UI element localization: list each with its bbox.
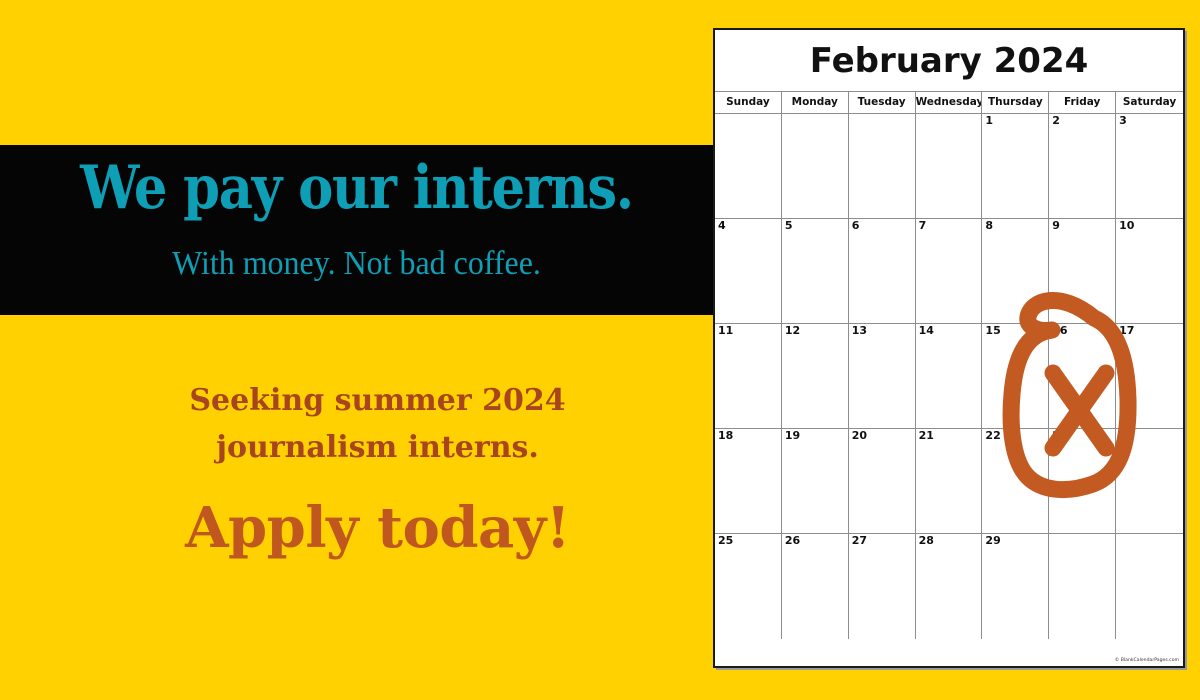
calendar-day-cell[interactable]: 3: [1116, 114, 1183, 219]
calendar-weekday-sunday: Sunday: [715, 92, 782, 113]
seeking-line-2: journalism interns.: [0, 425, 755, 472]
calendar-empty-cell: [715, 114, 782, 219]
calendar-day-cell[interactable]: 22: [982, 429, 1049, 534]
subheadline: With money. Not bad coffee.: [21, 244, 691, 283]
calendar-empty-cell: [916, 114, 983, 219]
calendar-day-number: 4: [718, 219, 726, 232]
calendar-empty-cell: [1116, 534, 1183, 639]
calendar: February 2024 SundayMondayTuesdayWednesd…: [713, 28, 1185, 668]
calendar-title: February 2024: [715, 30, 1183, 92]
calendar-day-number: 3: [1119, 114, 1127, 127]
calendar-weekday-saturday: Saturday: [1116, 92, 1183, 113]
headline: We pay our interns.: [43, 158, 670, 218]
calendar-day-cell[interactable]: 15: [982, 324, 1049, 429]
calendar-day-cell[interactable]: 6: [849, 219, 916, 324]
calendar-day-cell[interactable]: 4: [715, 219, 782, 324]
poster: We pay our interns. With money. Not bad …: [0, 0, 1200, 700]
calendar-day-cell[interactable]: 13: [849, 324, 916, 429]
calendar-day-number: 7: [919, 219, 927, 232]
calendar-day-cell[interactable]: 28: [916, 534, 983, 639]
calendar-day-cell[interactable]: 7: [916, 219, 983, 324]
calendar-grid: 1234567891011121314151617181920212223242…: [715, 114, 1183, 639]
calendar-day-cell[interactable]: 20: [849, 429, 916, 534]
calendar-day-number: 11: [718, 324, 733, 337]
calendar-day-number: 20: [852, 429, 867, 442]
calendar-day-number: 8: [985, 219, 993, 232]
calendar-day-cell[interactable]: 14: [916, 324, 983, 429]
calendar-day-number: 23: [1052, 429, 1067, 442]
calendar-day-cell[interactable]: 21: [916, 429, 983, 534]
calendar-day-cell[interactable]: 17: [1116, 324, 1183, 429]
calendar-weekday-wednesday: Wednesday: [916, 92, 983, 113]
calendar-day-number: 2: [1052, 114, 1060, 127]
calendar-day-number: 15: [985, 324, 1000, 337]
calendar-day-number: 14: [919, 324, 934, 337]
call-to-action: Apply today!: [0, 500, 755, 556]
calendar-day-number: 5: [785, 219, 793, 232]
calendar-day-number: 29: [985, 534, 1000, 547]
calendar-day-cell[interactable]: 25: [715, 534, 782, 639]
calendar-day-cell[interactable]: 5: [782, 219, 849, 324]
calendar-day-cell[interactable]: 26: [782, 534, 849, 639]
calendar-day-number: 1: [985, 114, 993, 127]
calendar-credit: © BlankCalendarPages.com: [1115, 658, 1179, 663]
calendar-day-cell[interactable]: 2: [1049, 114, 1116, 219]
calendar-day-number: 21: [919, 429, 934, 442]
calendar-day-cell[interactable]: 8: [982, 219, 1049, 324]
calendar-day-number: 16: [1052, 324, 1067, 337]
calendar-day-cell[interactable]: 23: [1049, 429, 1116, 534]
calendar-day-cell[interactable]: 12: [782, 324, 849, 429]
calendar-weekday-header: SundayMondayTuesdayWednesdayThursdayFrid…: [715, 92, 1183, 114]
calendar-day-number: 25: [718, 534, 733, 547]
calendar-day-number: 22: [985, 429, 1000, 442]
calendar-day-number: 10: [1119, 219, 1134, 232]
seeking-text: Seeking summer 2024 journalism interns.: [0, 378, 755, 471]
calendar-day-number: 13: [852, 324, 867, 337]
calendar-day-number: 18: [718, 429, 733, 442]
calendar-day-number: 28: [919, 534, 934, 547]
calendar-empty-cell: [1049, 534, 1116, 639]
calendar-day-number: 19: [785, 429, 800, 442]
calendar-day-cell[interactable]: 11: [715, 324, 782, 429]
calendar-day-cell[interactable]: 27: [849, 534, 916, 639]
calendar-weekday-tuesday: Tuesday: [849, 92, 916, 113]
calendar-day-number: 12: [785, 324, 800, 337]
calendar-day-cell[interactable]: 1: [982, 114, 1049, 219]
calendar-day-number: 24: [1119, 429, 1134, 442]
calendar-day-cell[interactable]: 18: [715, 429, 782, 534]
calendar-weekday-friday: Friday: [1049, 92, 1116, 113]
calendar-day-number: 17: [1119, 324, 1134, 337]
calendar-day-number: 26: [785, 534, 800, 547]
calendar-day-cell[interactable]: 9: [1049, 219, 1116, 324]
calendar-day-cell[interactable]: 16: [1049, 324, 1116, 429]
calendar-weekday-monday: Monday: [782, 92, 849, 113]
calendar-day-cell[interactable]: 19: [782, 429, 849, 534]
calendar-day-cell[interactable]: 24: [1116, 429, 1183, 534]
calendar-day-number: 6: [852, 219, 860, 232]
calendar-day-number: 27: [852, 534, 867, 547]
seeking-line-1: Seeking summer 2024: [0, 378, 755, 425]
calendar-day-cell[interactable]: 29: [982, 534, 1049, 639]
calendar-weekday-thursday: Thursday: [982, 92, 1049, 113]
calendar-empty-cell: [849, 114, 916, 219]
calendar-day-cell[interactable]: 10: [1116, 219, 1183, 324]
calendar-empty-cell: [782, 114, 849, 219]
calendar-day-number: 9: [1052, 219, 1060, 232]
